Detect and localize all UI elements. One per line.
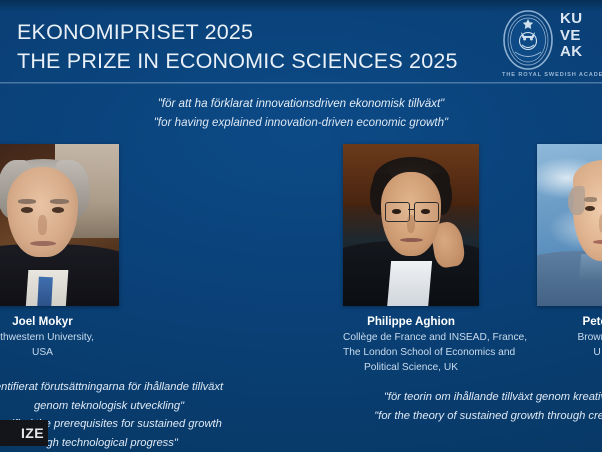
motivation-english: "for having explained innovation-driven … bbox=[0, 113, 602, 132]
laureate-name: Philippe Aghion bbox=[343, 315, 479, 329]
laureate-affiliation-line-3: Political Science, UK bbox=[343, 361, 479, 374]
laureate-affiliation-line-2: USA bbox=[0, 346, 119, 359]
page-title-swedish: EKONOMIPRISET 2025 bbox=[17, 19, 458, 46]
citation-aghion-howitt-en: "for the theory of sustained growth thro… bbox=[330, 407, 602, 426]
laureate-joel-mokyr: Joel Mokyr orthwestern University, USA bbox=[0, 144, 119, 359]
individual-citations: entifierat förutsättningarna för ihållan… bbox=[0, 378, 602, 452]
laureate-name: Peter bbox=[537, 315, 602, 329]
laureate-philippe-aghion: Philippe Aghion Collège de France and IN… bbox=[343, 144, 479, 375]
header: EKONOMIPRISET 2025 THE PRIZE IN ECONOMIC… bbox=[0, 0, 602, 82]
laureate-affiliation-line-1: Brown U bbox=[537, 331, 602, 344]
portrait-philippe-aghion bbox=[343, 144, 479, 306]
citation-aghion-howitt-sv: "för teorin om ihållande tillväxt genom … bbox=[330, 388, 602, 407]
motivation-swedish: "för att ha förklarat innovationsdriven … bbox=[0, 94, 602, 113]
portrait-peter-howitt bbox=[537, 144, 602, 306]
citation-mokyr-sv-line1: entifierat förutsättningarna för ihållan… bbox=[0, 378, 274, 397]
nobel-prize-announcement-slide: EKONOMIPRISET 2025 THE PRIZE IN ECONOMIC… bbox=[0, 0, 602, 452]
page-title-english: THE PRIZE IN ECONOMIC SCIENCES 2025 bbox=[17, 48, 458, 75]
portrait-joel-mokyr bbox=[0, 144, 119, 306]
laureate-affiliation-line-1: Collège de France and INSEAD, France, bbox=[343, 331, 479, 344]
academy-logo-text: KUVEAK bbox=[560, 11, 582, 61]
header-titles: EKONOMIPRISET 2025 THE PRIZE IN ECONOMIC… bbox=[17, 19, 458, 75]
academy-logo: KUVEAK THE ROYAL SWEDISH ACADEMY OF SCIE… bbox=[502, 4, 602, 82]
laureate-peter-howitt: Peter Brown U U bbox=[537, 144, 602, 359]
prize-motivation: "för att ha förklarat innovationsdriven … bbox=[0, 94, 602, 132]
laureate-name: Joel Mokyr bbox=[0, 315, 119, 329]
academy-logo-caption: THE ROYAL SWEDISH ACADEMY OF SCIENCES bbox=[502, 72, 602, 78]
laureate-affiliation-line-1: orthwestern University, bbox=[0, 331, 119, 344]
watermark-text: IZE bbox=[21, 425, 44, 441]
laureate-affiliation-line-2: The London School of Economics and bbox=[343, 346, 479, 359]
citation-mokyr-sv-line2: genom teknologisk utveckling" bbox=[0, 397, 274, 416]
citation-aghion-howitt: "för teorin om ihållande tillväxt genom … bbox=[330, 388, 602, 425]
header-divider bbox=[0, 82, 602, 84]
nobelprize-watermark: IZE bbox=[0, 420, 48, 446]
royal-swedish-academy-seal-icon bbox=[502, 10, 554, 70]
laureate-affiliation-line-2: U bbox=[537, 346, 602, 359]
